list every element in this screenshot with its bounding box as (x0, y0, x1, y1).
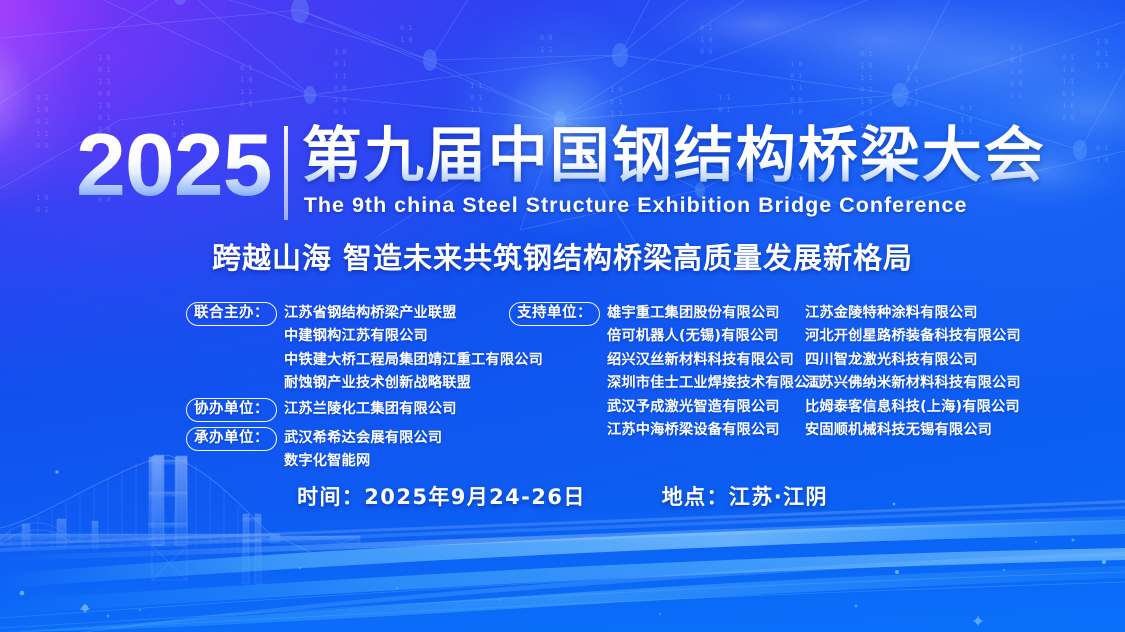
co-organizer-label: 协办单位： (186, 398, 277, 422)
list-item: 绍兴汉丝新材料科技有限公司 (607, 349, 823, 372)
list-item: 中铁建大桥工程局集团靖江重工有限公司 (284, 349, 543, 372)
co-organizer-list: 江苏兰陵化工集团有限公司 (284, 398, 457, 421)
supporters-list-two: 江苏金陵特种涂料有限公司 河北开创星路桥装备科技有限公司 四川智龙激光科技有限公… (805, 302, 1021, 442)
list-item: 江苏中海桥梁设备有限公司 (607, 419, 823, 442)
joint-host-group: 联合主办： 江苏省钢结构桥梁产业联盟 中建钢构江苏有限公司 中铁建大桥工程局集团… (186, 302, 543, 396)
list-item: 江苏兰陵化工集团有限公司 (284, 398, 457, 421)
supporters-list-one: 雄宇重工集团股份有限公司 倍可机器人(无锡)有限公司 绍兴汉丝新材料科技有限公司… (607, 302, 823, 442)
list-item: 安固顺机械科技无锡有限公司 (805, 419, 1021, 442)
list-item: 数字化智能网 (284, 450, 442, 473)
supporters-group: 支持单位： 雄宇重工集团股份有限公司 倍可机器人(无锡)有限公司 绍兴汉丝新材料… (509, 302, 823, 442)
sponsor-section: 联合主办： 江苏省钢结构桥梁产业联盟 中建钢构江苏有限公司 中铁建大桥工程局集团… (0, 300, 1125, 450)
event-location: 地点：江苏·江阴 (662, 483, 828, 511)
organizer-label: 承办单位： (186, 427, 277, 451)
list-item: 雄宇重工集团股份有限公司 (607, 302, 823, 325)
joint-host-label: 联合主办： (186, 302, 277, 326)
list-item: 武汉予成激光智造有限公司 (607, 396, 823, 419)
page-title: 第九届中国钢结构桥梁大会 (302, 124, 1046, 188)
co-organizer-group: 协办单位： 江苏兰陵化工集团有限公司 (186, 398, 457, 422)
event-footer: 时间：2025年9月24-26日 地点：江苏·江阴 (0, 483, 1125, 511)
year-label: 2025 (76, 122, 286, 208)
joint-host-list: 江苏省钢结构桥梁产业联盟 中建钢构江苏有限公司 中铁建大桥工程局集团靖江重工有限… (284, 302, 543, 396)
supporters-label: 支持单位： (509, 302, 600, 326)
list-item: 河北开创星路桥装备科技有限公司 (805, 325, 1021, 348)
list-item: 江苏金陵特种涂料有限公司 (805, 302, 1021, 325)
conference-banner: 0 11 00 1 1 10 0 1 00 11 1 0 01 00 1 1 0… (0, 0, 1125, 632)
event-date: 时间：2025年9月24-26日 (297, 483, 586, 511)
list-item: 四川智龙激光科技有限公司 (805, 349, 1021, 372)
list-item: 倍可机器人(无锡)有限公司 (607, 325, 823, 348)
title-row: 2025 第九届中国钢结构桥梁大会 The 9th china Steel St… (78, 122, 1046, 220)
organizer-group: 承办单位： 武汉希希达会展有限公司 数字化智能网 (186, 427, 442, 474)
title-block: 第九届中国钢结构桥梁大会 The 9th china Steel Structu… (302, 122, 1046, 217)
supporters-group-two: 江苏金陵特种涂料有限公司 河北开创星路桥装备科技有限公司 四川智龙激光科技有限公… (805, 302, 1021, 442)
list-item: 江苏省钢结构桥梁产业联盟 (284, 302, 543, 325)
organizer-list: 武汉希希达会展有限公司 数字化智能网 (284, 427, 442, 474)
page-subtitle-en: The 9th china Steel Structure Exhibition… (304, 193, 1046, 217)
list-item: 中建钢构江苏有限公司 (284, 325, 543, 348)
list-item: 武汉希希达会展有限公司 (284, 427, 442, 450)
list-item: 江苏兴佛纳米新材料科技有限公司 (805, 372, 1021, 395)
list-item: 比姆泰客信息科技(上海)有限公司 (805, 396, 1021, 419)
list-item: 耐蚀钢产业技术创新战略联盟 (284, 372, 543, 395)
list-item: 深圳市佳士工业焊接技术有限公司 (607, 372, 823, 395)
tagline: 跨越山海 智造未来共筑钢结构桥梁高质量发展新格局 (0, 240, 1125, 276)
